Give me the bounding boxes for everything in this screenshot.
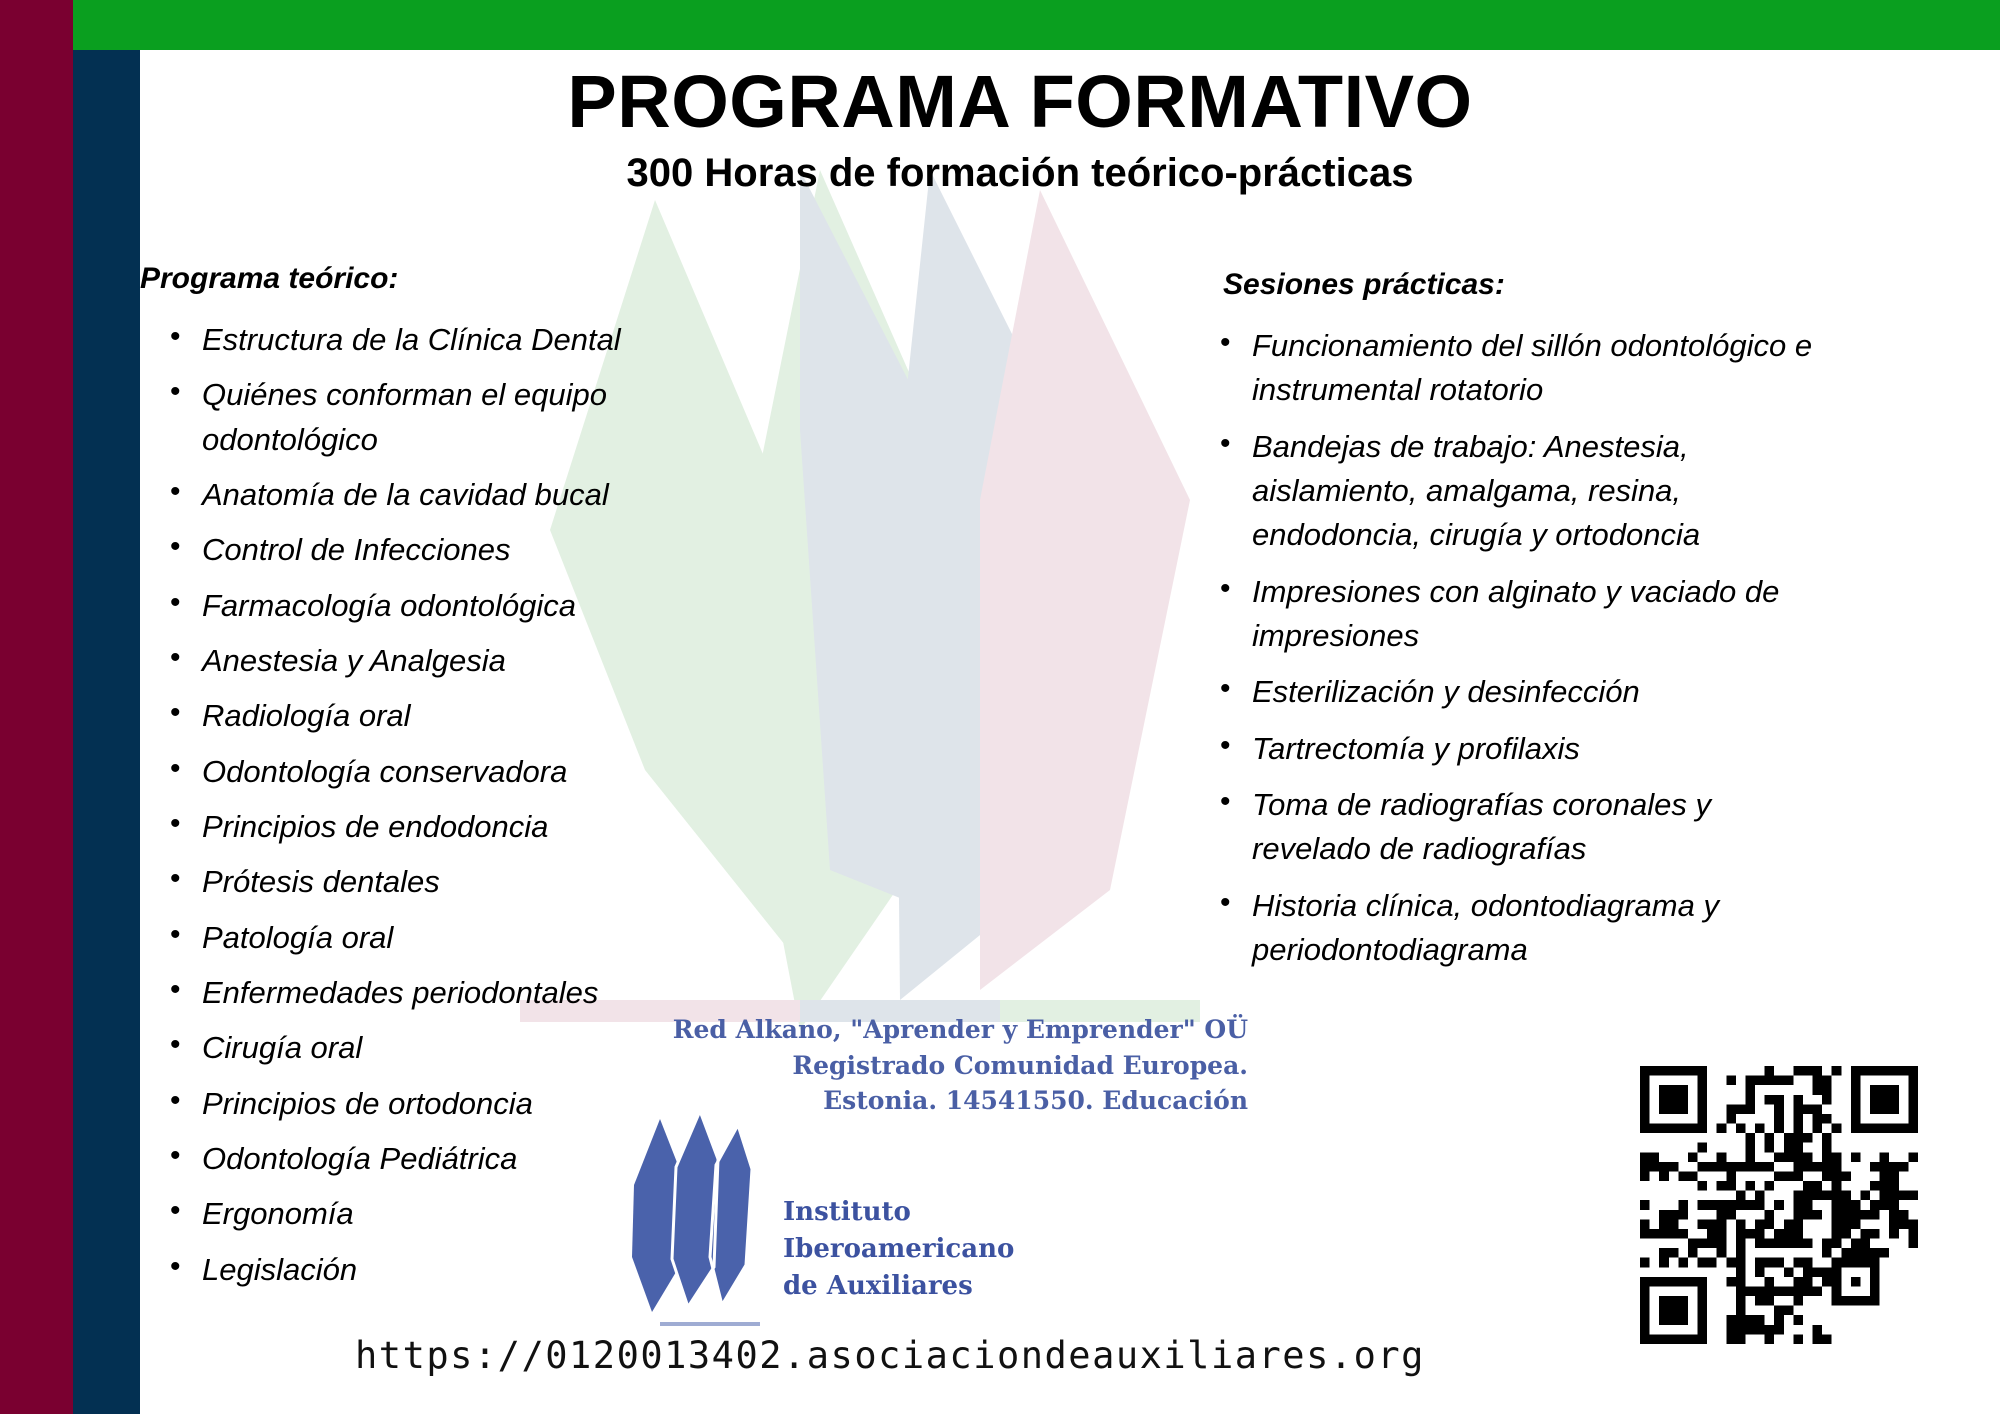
left-navy-bar (73, 50, 140, 1414)
practice-list: Funcionamiento del sillón odontológico e… (1190, 324, 1830, 972)
list-item: Toma de radiografías coronales y revelad… (1252, 783, 1830, 872)
list-item: Prótesis dentales (202, 860, 780, 904)
list-item: Bandejas de trabajo: Anestesia, aislamie… (1252, 425, 1830, 558)
list-item: Historia clínica, odontodiagrama y perio… (1252, 884, 1830, 973)
list-item: Radiología oral (202, 694, 780, 738)
theory-heading: Programa teórico: (140, 262, 780, 296)
page-subtitle: 300 Horas de formación teórico-prácticas (140, 150, 1900, 196)
page-title: PROGRAMA FORMATIVO (140, 62, 1900, 142)
header-block: PROGRAMA FORMATIVO 300 Horas de formació… (140, 62, 1900, 196)
institute-name: Instituto Iberoamericano de Auxiliares (783, 1194, 1014, 1305)
poster-canvas: PROGRAMA FORMATIVO 300 Horas de formació… (0, 0, 2000, 1414)
list-item: Esterilización y desinfección (1252, 670, 1830, 714)
list-item: Farmacología odontológica (202, 584, 780, 628)
list-item: Anestesia y Analgesia (202, 639, 780, 683)
registration-text: Red Alkano, "Aprender y Emprender" OÜ Re… (598, 1012, 1248, 1119)
list-item: Odontología conservadora (202, 750, 780, 794)
list-item: Enfermedades periodontales (202, 971, 780, 1015)
institution-logo-block: Red Alkano, "Aprender y Emprender" OÜ Re… (598, 1012, 1258, 1332)
top-green-bar (73, 0, 2000, 50)
practice-column: Sesiones prácticas: Funcionamiento del s… (1190, 268, 1830, 984)
list-item: Control de Infecciones (202, 528, 780, 572)
list-item: Anatomía de la cavidad bucal (202, 473, 780, 517)
website-url[interactable]: https://0120013402.asociaciondeauxiliare… (140, 1334, 1640, 1377)
list-item: Tartrectomía y profilaxis (1252, 727, 1830, 771)
practice-heading: Sesiones prácticas: (1190, 268, 1830, 302)
list-item: Patología oral (202, 916, 780, 960)
list-item: Funcionamiento del sillón odontológico e… (1252, 324, 1830, 413)
list-item: Quiénes conforman el equipo odontológico (202, 373, 780, 462)
left-maroon-bar (0, 0, 73, 1414)
list-item: Impresiones con alginato y vaciado de im… (1252, 570, 1830, 659)
logo-underline-rule (660, 1322, 760, 1326)
list-item: Estructura de la Clínica Dental (202, 318, 780, 362)
list-item: Principios de endodoncia (202, 805, 780, 849)
flame-logo-icon (626, 1107, 756, 1332)
qr-code[interactable] (1640, 1066, 1918, 1344)
